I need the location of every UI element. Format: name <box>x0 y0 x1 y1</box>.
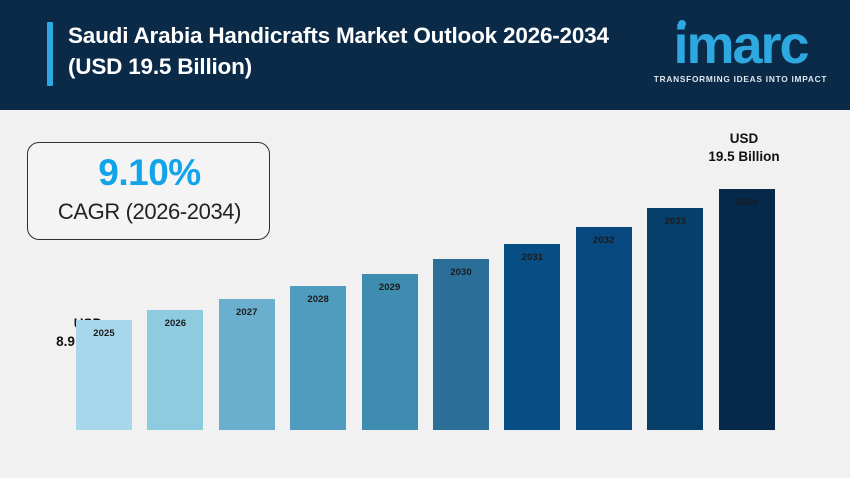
bar-2033 <box>647 208 703 430</box>
end-value-line2: 19.5 Billion <box>684 148 804 166</box>
bar-2028 <box>290 286 346 430</box>
x-axis-label-2031: 2031 <box>504 252 560 263</box>
x-axis-label-2027: 2027 <box>219 307 275 318</box>
bar-group-2033: 2033 <box>647 208 703 430</box>
bar-2031 <box>504 244 560 430</box>
x-axis-label-2033: 2033 <box>647 216 703 227</box>
bar-2027 <box>219 299 275 430</box>
bar-group-2032: 2032 <box>576 227 632 430</box>
header-banner: Saudi Arabia Handicrafts Market Outlook … <box>0 0 850 110</box>
bar-chart: USD 8.9 Billion USD 19.5 Billion 2025202… <box>0 110 850 478</box>
bar-group-2029: 2029 <box>362 274 418 430</box>
x-axis-label-2028: 2028 <box>290 294 346 305</box>
x-axis-label-2030: 2030 <box>433 267 489 278</box>
title-accent-bar <box>47 22 53 86</box>
imarc-logo: imarc TRANSFORMING IDEAS INTO IMPACT <box>653 14 828 94</box>
x-axis-label-2026: 2026 <box>147 318 203 329</box>
bar-group-2025: 2025 <box>76 320 132 430</box>
bar-2030 <box>433 259 489 430</box>
bar-group-2028: 2028 <box>290 286 346 430</box>
logo-wordmark: imarc <box>653 18 828 72</box>
x-axis-label-2029: 2029 <box>362 282 418 293</box>
end-value-line1: USD <box>684 130 804 148</box>
page-title: Saudi Arabia Handicrafts Market Outlook … <box>68 20 638 82</box>
x-axis-label-2032: 2032 <box>576 235 632 246</box>
bar-group-2031: 2031 <box>504 244 560 430</box>
x-axis-label-2034: 2034 <box>719 197 775 208</box>
infographic-page: Saudi Arabia Handicrafts Market Outlook … <box>0 0 850 478</box>
end-value-annotation: USD 19.5 Billion <box>684 130 804 166</box>
bar-group-2026: 2026 <box>147 310 203 430</box>
bar-group-2030: 2030 <box>433 259 489 430</box>
logo-tagline: TRANSFORMING IDEAS INTO IMPACT <box>653 74 828 84</box>
bar-group-2034: 2034 <box>719 189 775 430</box>
x-axis-label-2025: 2025 <box>76 328 132 339</box>
bar-2034 <box>719 189 775 430</box>
bar-group-2027: 2027 <box>219 299 275 430</box>
bar-2029 <box>362 274 418 430</box>
bar-2032 <box>576 227 632 430</box>
